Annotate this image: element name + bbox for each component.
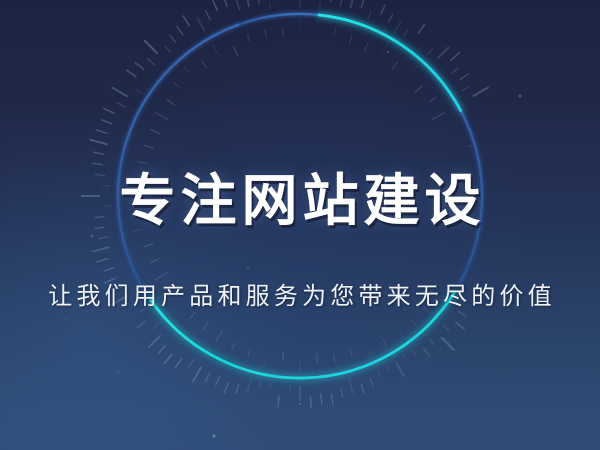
page-subtitle: 让我们用产品和服务为您带来无尽的价值 [0,280,600,312]
page-title: 专注网站建设 [0,170,600,234]
banner-text-layer: 专注网站建设 让我们用产品和服务为您带来无尽的价值 [0,0,600,450]
hero-banner: 专注网站建设 让我们用产品和服务为您带来无尽的价值 [0,0,600,450]
